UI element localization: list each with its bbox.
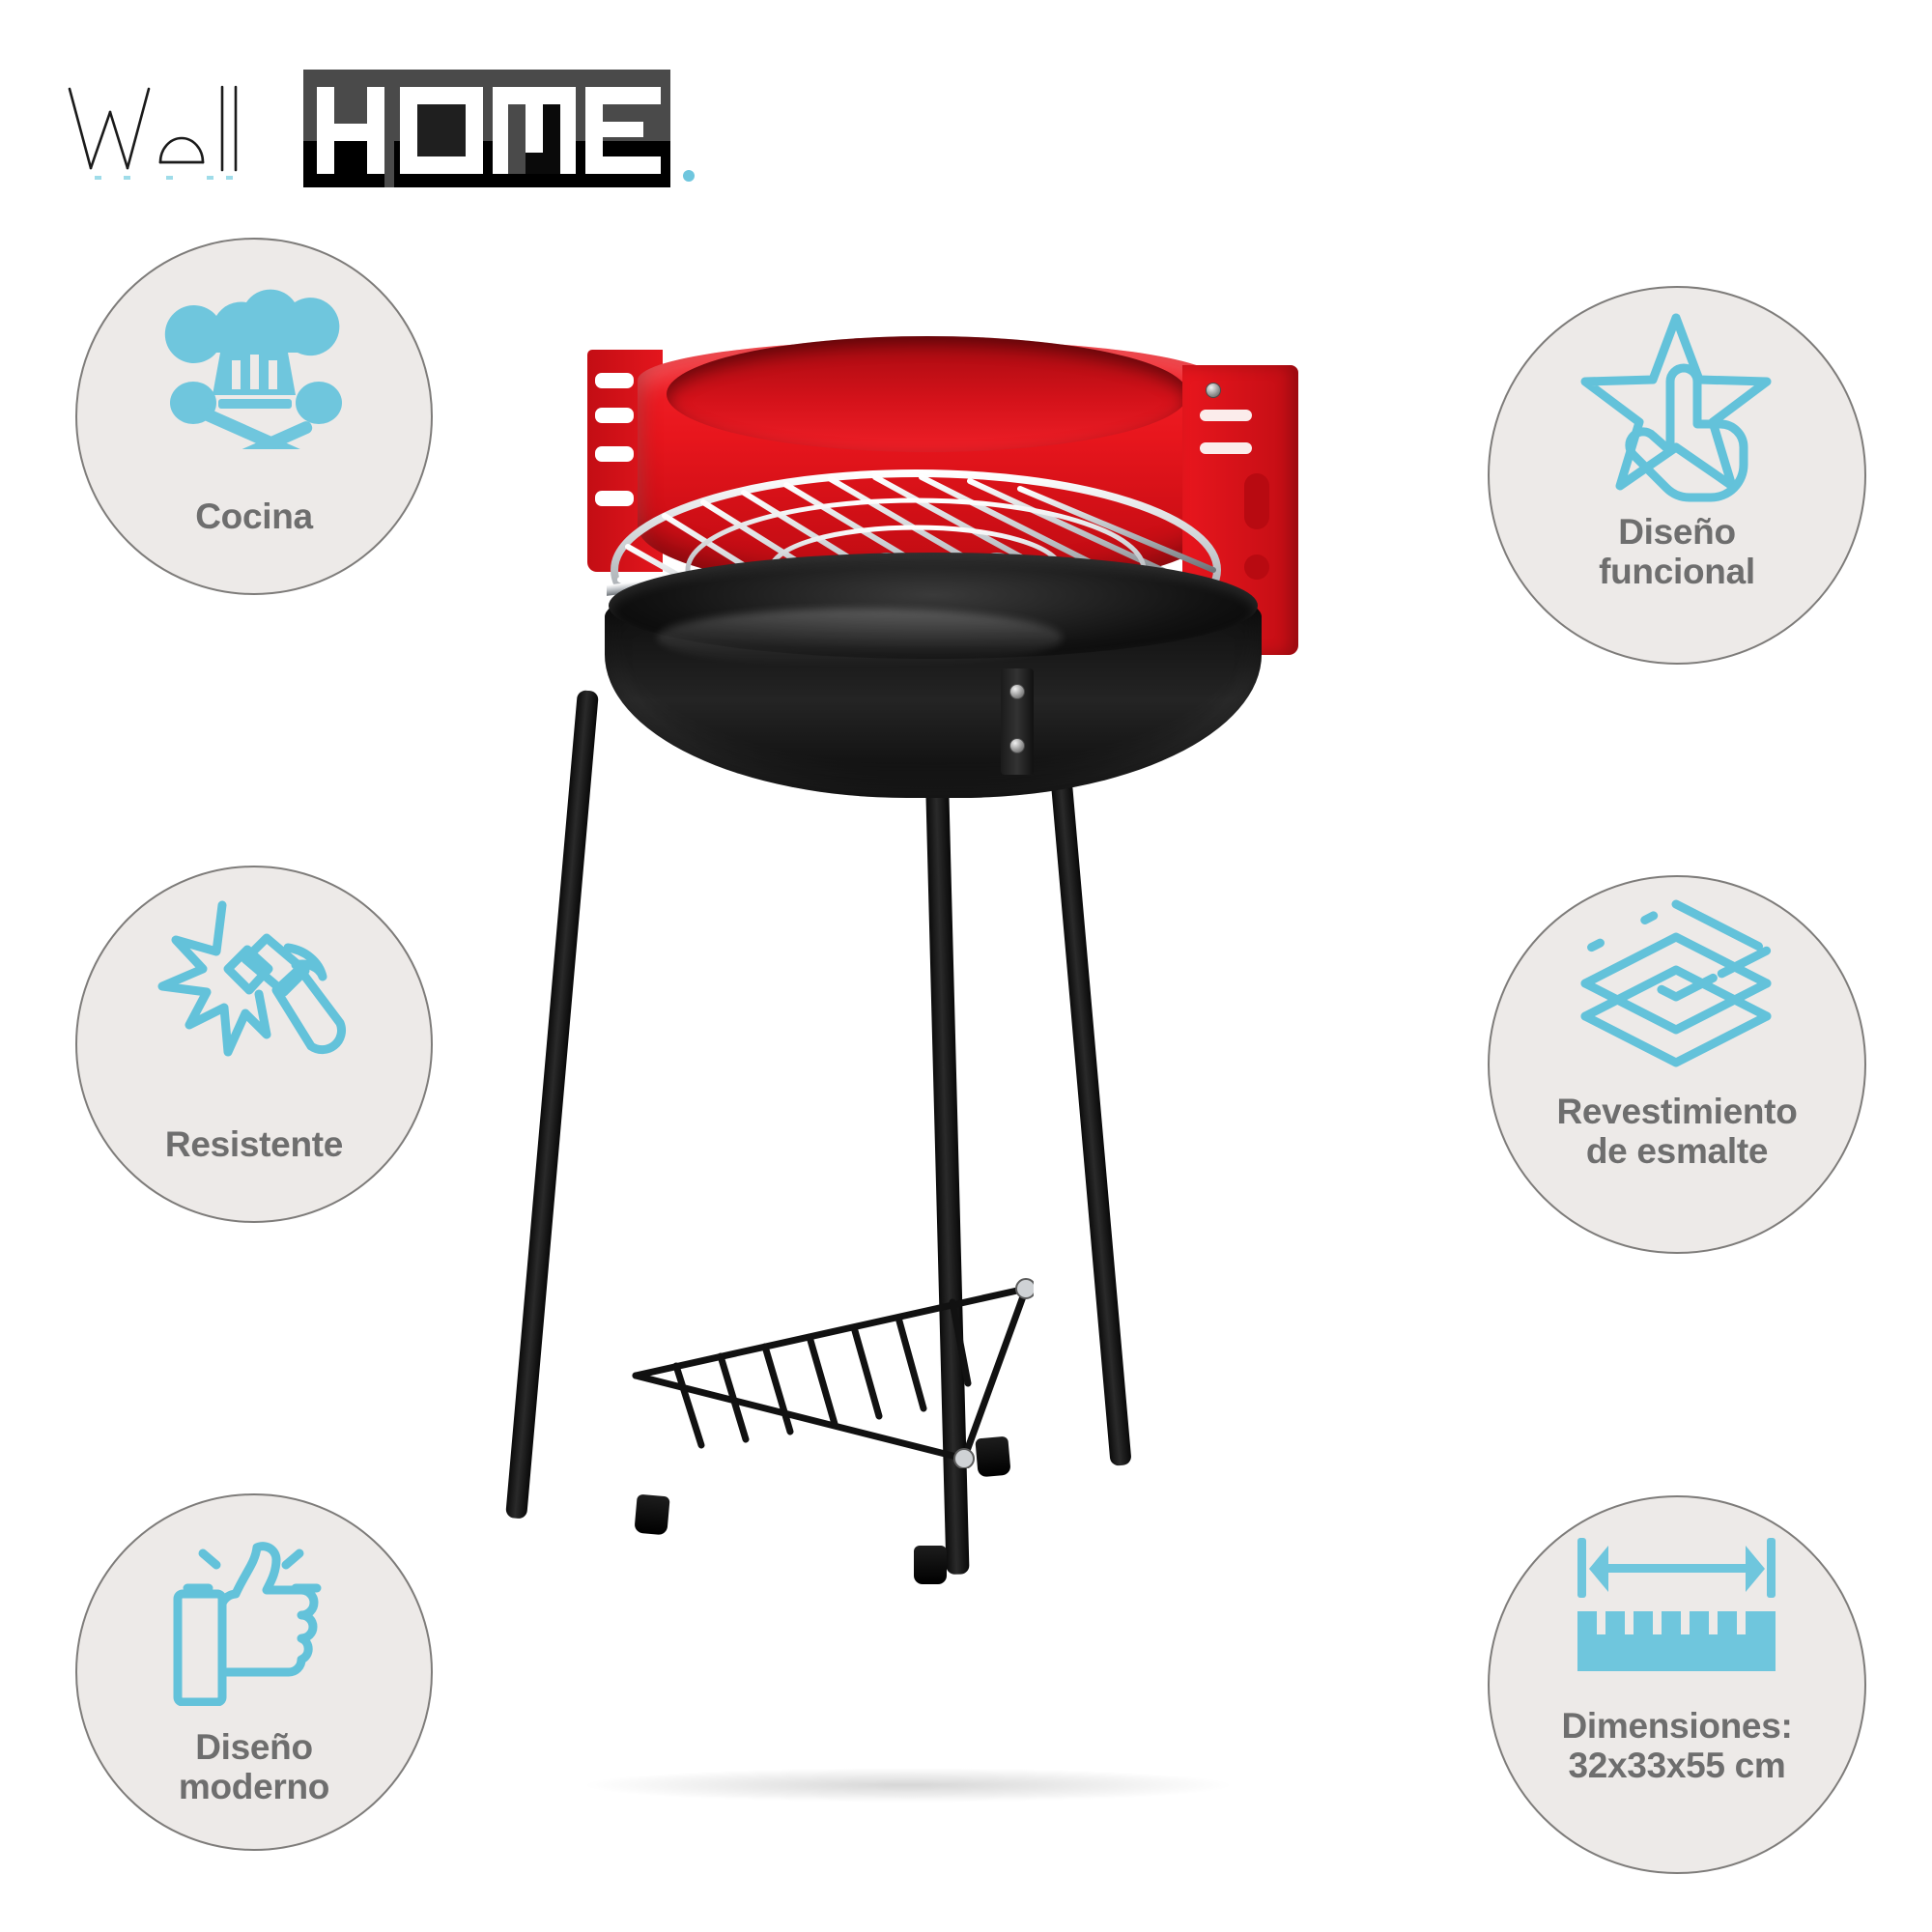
brand-logo xyxy=(60,70,697,195)
product-wire-shelf xyxy=(531,1256,1034,1468)
feature-label-line1: Dimensiones: xyxy=(1561,1706,1792,1746)
feature-label-cocina: Cocina xyxy=(92,497,417,536)
product-ground-shadow xyxy=(580,1768,1236,1803)
feature-label-line2: moderno xyxy=(179,1767,329,1806)
logo-home-wordmark xyxy=(303,70,670,187)
feature-label-line2: funcional xyxy=(1599,552,1755,591)
product-leg-right xyxy=(1043,695,1132,1466)
chef-hat-spoons-icon xyxy=(77,240,431,442)
feature-label-line1: Diseño xyxy=(1618,512,1736,552)
feature-circle-dimensiones[interactable]: Dimensiones: 32x33x55 cm xyxy=(1488,1495,1866,1874)
feature-circle-diseno-funcional[interactable]: Diseño funcional xyxy=(1488,286,1866,665)
feature-label-line2: 32x33x55 cm xyxy=(1568,1746,1785,1785)
feature-circle-resistente[interactable]: Resistente xyxy=(75,866,433,1223)
product-bowl-bracket xyxy=(1001,668,1034,775)
logo-well-wordmark xyxy=(60,73,301,180)
feature-circle-revestimiento-esmalte[interactable]: Revestimiento de esmalte xyxy=(1488,875,1866,1254)
hammer-impact-icon xyxy=(77,867,431,1072)
ruler-measure-icon xyxy=(1490,1497,1864,1681)
product-bowl-highlight xyxy=(657,609,1063,667)
product-drum-interior xyxy=(667,336,1188,452)
feature-label-revestimiento-esmalte: Revestimiento de esmalte xyxy=(1505,1092,1850,1172)
logo-accent-dot xyxy=(683,170,695,182)
feature-label-line1: Revestimiento xyxy=(1556,1092,1797,1131)
product-feature-poster: Cocina Resistente xyxy=(0,0,1932,1932)
feature-label-line2: de esmalte xyxy=(1586,1131,1768,1171)
feature-label-line1: Diseño xyxy=(195,1727,313,1767)
layers-icon xyxy=(1490,877,1864,1070)
thumbs-up-icon xyxy=(77,1495,431,1700)
feature-label-diseno-funcional: Diseño funcional xyxy=(1505,512,1850,592)
feature-circle-cocina[interactable]: Cocina xyxy=(75,238,433,595)
product-image-barbacoa xyxy=(464,290,1488,1874)
feature-label-resistente: Resistente xyxy=(92,1124,417,1164)
feature-circle-diseno-moderno[interactable]: Diseño moderno xyxy=(75,1493,433,1851)
product-leg-left-foot xyxy=(634,1494,669,1536)
product-leg-center-foot xyxy=(914,1546,947,1584)
feature-label-diseno-moderno: Diseño moderno xyxy=(92,1727,417,1807)
star-pointer-icon xyxy=(1490,288,1864,493)
feature-label-dimensiones: Dimensiones: 32x33x55 cm xyxy=(1505,1706,1850,1786)
